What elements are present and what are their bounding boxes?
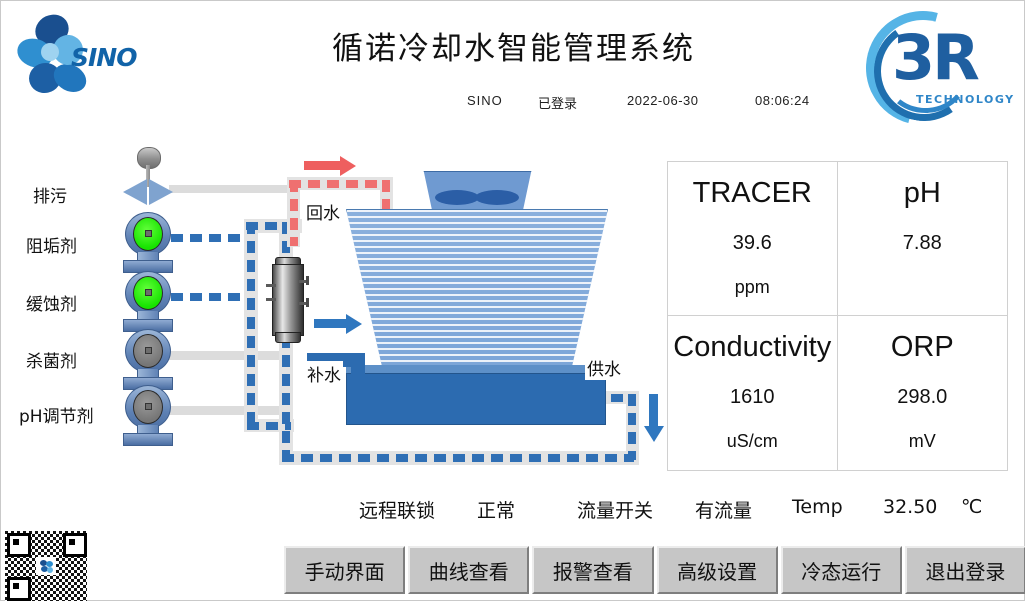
reading-name: Conductivity xyxy=(673,332,831,364)
reading-name: TRACER xyxy=(693,178,812,210)
button-logout[interactable]: 退出登录 xyxy=(905,546,1025,594)
heat-exchanger[interactable] xyxy=(266,254,308,346)
button-cold-standby[interactable]: 冷态运行 xyxy=(781,546,902,594)
pump-shaft-dot xyxy=(145,347,152,354)
cooling-tower-body xyxy=(346,209,608,381)
pump-ph-adjuster[interactable] xyxy=(119,385,175,447)
antiscalant-dosing-line xyxy=(171,234,249,242)
hx-nozzle-cap-lower xyxy=(306,298,309,307)
reading-value: 298.0 xyxy=(897,386,947,409)
pump-corrosion-inhibitor[interactable] xyxy=(119,271,175,333)
status-row: 远程联锁 正常 流量开关 有流量 Temp 32.50 ℃ xyxy=(1,496,1025,528)
label-makeup-water: 补水 xyxy=(305,361,343,386)
reading-value: 1610 xyxy=(730,386,775,409)
fan-blade-left-icon xyxy=(435,190,479,205)
button-advanced-settings[interactable]: 高级设置 xyxy=(657,546,778,594)
system-time: 08:06:24 xyxy=(755,93,810,108)
pump-shaft-dot xyxy=(145,289,152,296)
pump-shaft-dot xyxy=(145,230,152,237)
temp-unit: ℃ xyxy=(961,496,982,518)
biocide-feed-pipe xyxy=(169,351,284,360)
pump-biocide[interactable] xyxy=(119,329,175,391)
hx-shell xyxy=(272,264,304,336)
system-date: 2022-06-30 xyxy=(627,93,699,108)
tower-fill-media xyxy=(347,210,607,380)
makeup-pipe-vertical xyxy=(351,353,365,375)
hx-nozzle-left-lower xyxy=(266,298,276,301)
hx-nozzle-left-upper xyxy=(266,284,276,287)
hx-bottom-cap xyxy=(275,332,301,343)
pump-shaft-dot xyxy=(145,403,152,410)
label-blowdown: 排污 xyxy=(33,182,67,207)
pump-base xyxy=(123,433,173,446)
label-biocide: 杀菌剂 xyxy=(26,347,77,372)
login-status: 已登录 xyxy=(538,93,577,112)
label-ph-adjuster: pH调节剂 xyxy=(19,402,94,427)
blowdown-pipe xyxy=(169,185,289,193)
flowswitch-value: 有流量 xyxy=(695,496,752,523)
temp-label: Temp xyxy=(792,496,843,518)
measurement-panel: TRACER 39.6 ppm pH 7.88 Conductivity 161… xyxy=(667,161,1008,471)
loop-line-left xyxy=(247,222,255,428)
qr-finder-bl xyxy=(7,577,31,601)
partner-logo-3r: 3R TECHNOLOGY xyxy=(864,7,1014,119)
reading-orp: ORP 298.0 mV xyxy=(838,316,1008,470)
reading-value: 39.6 xyxy=(733,232,772,255)
return-line-top xyxy=(289,180,389,188)
reading-unit: ppm xyxy=(735,277,770,298)
qr-code[interactable] xyxy=(5,531,87,601)
interlock-value: 正常 xyxy=(477,496,515,523)
fan-blade-right-icon xyxy=(475,190,519,205)
button-manual-screen[interactable]: 手动界面 xyxy=(284,546,405,594)
supply-line-right xyxy=(628,394,636,460)
loop-line-bottom xyxy=(282,454,634,462)
ph-feed-pipe xyxy=(169,406,284,415)
button-bar: 手动界面 曲线查看 报警查看 高级设置 冷态运行 退出登录 xyxy=(284,546,1025,594)
logo-3r-subtext: TECHNOLOGY xyxy=(916,93,1015,106)
logo-3r-text: 3R xyxy=(892,21,977,94)
hmi-screen: SINO 循诺冷却水智能管理系统 SINO 已登录 2022-06-30 08:… xyxy=(0,0,1025,601)
reading-tracer: TRACER 39.6 ppm xyxy=(668,162,838,316)
reading-name: pH xyxy=(904,178,941,210)
label-return-water: 回水 xyxy=(304,199,342,224)
reading-unit: mV xyxy=(909,431,936,452)
cooling-tower-basin xyxy=(346,373,606,425)
blowdown-valve[interactable] xyxy=(119,147,177,205)
label-corrosion-inhibitor: 缓蚀剂 xyxy=(26,290,77,315)
qr-finder-tl xyxy=(7,533,31,557)
flowswitch-label: 流量开关 xyxy=(577,496,653,523)
reading-value: 7.88 xyxy=(903,232,942,255)
button-view-trends[interactable]: 曲线查看 xyxy=(408,546,529,594)
reading-name: ORP xyxy=(891,332,954,364)
hx-nozzle-cap-upper xyxy=(306,276,309,285)
loop-line-return-join xyxy=(247,422,291,430)
button-view-alarms[interactable]: 报警查看 xyxy=(532,546,653,594)
reading-conductivity: Conductivity 1610 uS/cm xyxy=(668,316,838,470)
interlock-label: 远程联锁 xyxy=(359,496,435,523)
corrosion-inhibitor-dosing-line xyxy=(171,293,249,301)
label-supply-water: 供水 xyxy=(585,355,623,380)
qr-finder-tr xyxy=(63,533,87,557)
valve-body-left xyxy=(123,179,147,205)
return-line-right xyxy=(382,180,390,214)
current-user: SINO xyxy=(467,93,503,108)
pump-antiscalant[interactable] xyxy=(119,212,175,274)
label-antiscalant: 阻垢剂 xyxy=(26,232,77,257)
return-line-left xyxy=(290,180,298,246)
temp-value: 32.50 xyxy=(883,496,937,518)
reading-unit: uS/cm xyxy=(727,431,778,452)
reading-ph: pH 7.88 xyxy=(838,162,1008,316)
valve-body-right xyxy=(149,179,173,205)
